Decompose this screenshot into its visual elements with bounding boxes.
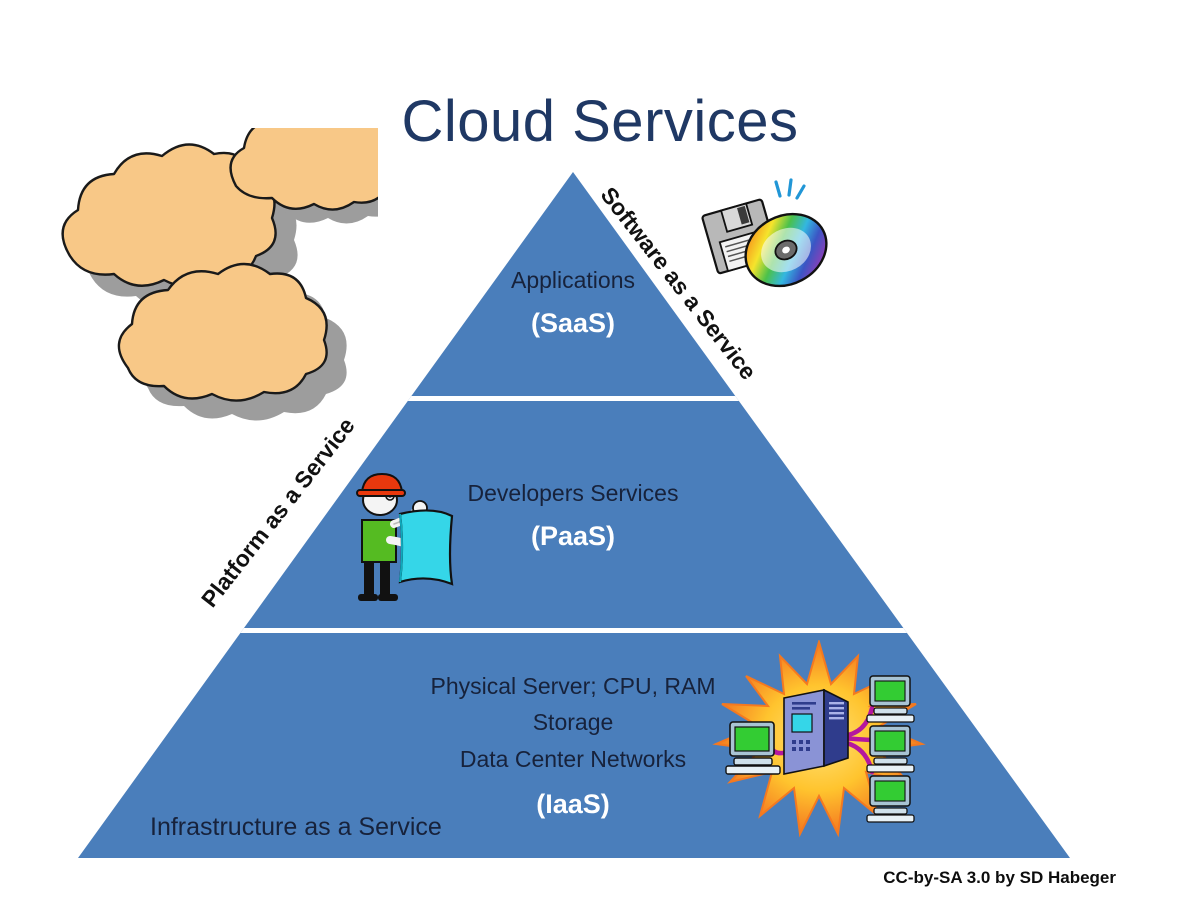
infrastructure-base-label: Infrastructure as a Service xyxy=(150,813,442,842)
cloud-services-diagram: Cloud Services xyxy=(0,0,1200,900)
iaas-line-1: Physical Server; CPU, RAM xyxy=(343,668,803,704)
computer-right-2 xyxy=(867,726,914,772)
iaas-line-3: Data Center Networks xyxy=(343,741,803,777)
clouds-illustration xyxy=(28,128,378,458)
sparkle-icon xyxy=(776,180,804,198)
iaas-line-2: Storage xyxy=(343,704,803,740)
paas-line-1: Developers Services xyxy=(393,478,753,509)
computer-right-3 xyxy=(867,776,914,822)
paas-acronym: (PaaS) xyxy=(393,518,753,554)
license-credit: CC-by-SA 3.0 by SD Habeger xyxy=(883,868,1116,888)
paas-layer-text: Developers Services (PaaS) xyxy=(393,478,753,554)
iaas-layer-text: Physical Server; CPU, RAM Storage Data C… xyxy=(343,668,803,822)
computer-right-1 xyxy=(867,676,914,722)
